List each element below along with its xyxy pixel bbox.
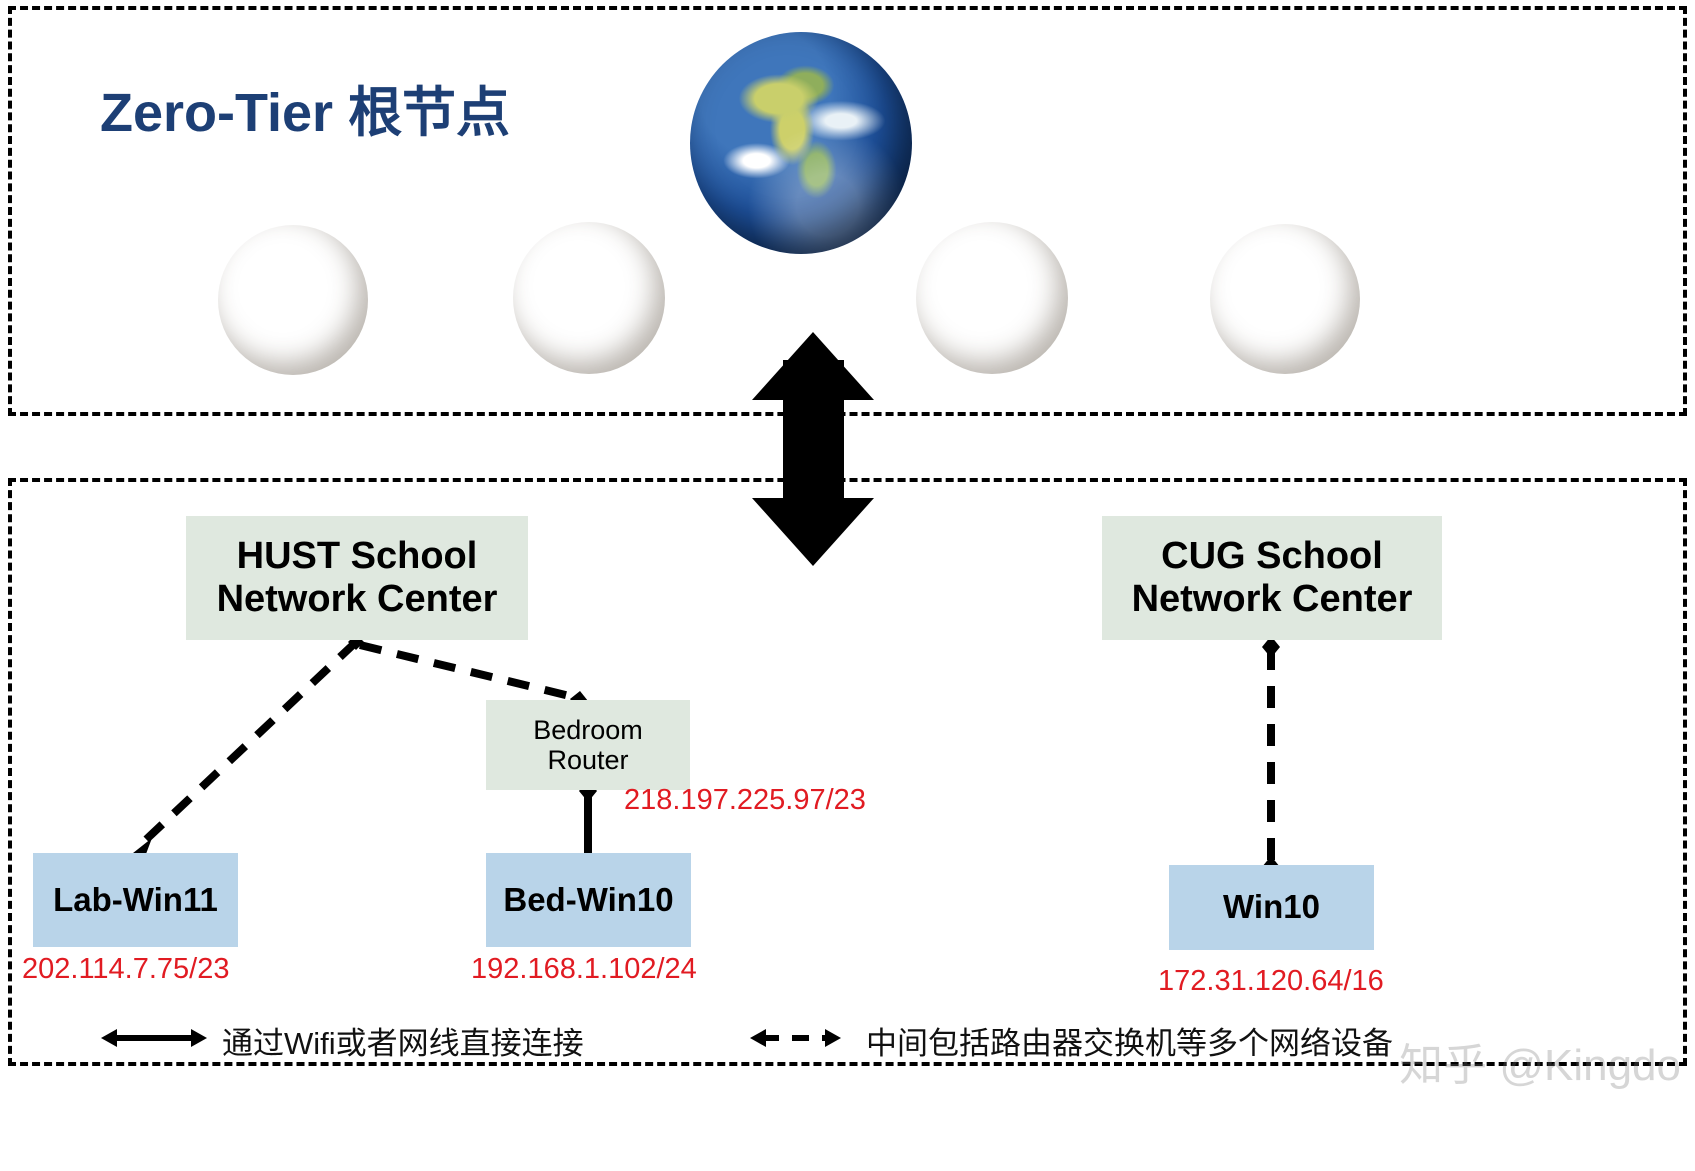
bed-win10-box[interactable]: Bed-Win10	[486, 853, 691, 947]
cug-win10-ip-label: 172.31.120.64/16	[1158, 965, 1384, 998]
lab-win11-label: Lab-Win11	[53, 882, 218, 919]
diagram-canvas: Zero-Tier 根节点	[0, 0, 1695, 1171]
router-label-line2: Router	[547, 745, 628, 775]
cug-network-center-box[interactable]: CUG School Network Center	[1102, 516, 1442, 640]
moon-icon-3	[916, 222, 1068, 374]
hust-label-line1: HUST School	[237, 535, 478, 578]
cug-win10-label: Win10	[1223, 889, 1320, 926]
moon-icon-1	[218, 225, 368, 375]
hust-network-center-box[interactable]: HUST School Network Center	[186, 516, 528, 640]
earth-globe-icon	[690, 32, 912, 254]
cug-label-line2: Network Center	[1132, 578, 1413, 621]
router-label-line1: Bedroom	[533, 715, 643, 745]
lab-win11-box[interactable]: Lab-Win11	[33, 853, 238, 947]
cug-win10-box[interactable]: Win10	[1169, 865, 1374, 950]
moon-icon-2	[513, 222, 665, 374]
bed-win10-ip-label: 192.168.1.102/24	[471, 953, 697, 986]
legend-dashed-label: 中间包括路由器交换机等多个网络设备	[866, 1018, 1393, 1063]
hust-label-line2: Network Center	[217, 578, 498, 621]
lab-win11-ip-label: 202.114.7.75/23	[22, 953, 230, 986]
legend-solid-label: 通过Wifi或者网线直接连接	[222, 1018, 584, 1063]
bedroom-router-ip-label: 218.197.225.97/23	[624, 784, 866, 817]
cug-label-line1: CUG School	[1161, 535, 1383, 578]
bed-win10-label: Bed-Win10	[503, 882, 673, 919]
moon-icon-4	[1210, 224, 1360, 374]
bedroom-router-box[interactable]: Bedroom Router	[486, 700, 690, 790]
page-title: Zero-Tier 根节点	[100, 68, 510, 147]
watermark: 知乎 @Kingdo	[1399, 1029, 1681, 1093]
